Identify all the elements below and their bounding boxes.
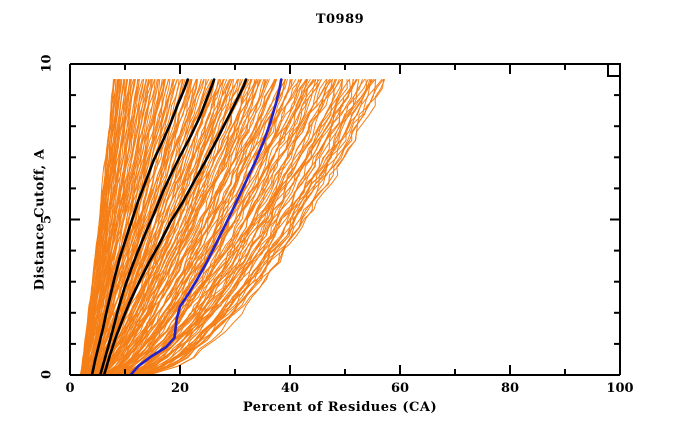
y-tick-label: 0	[40, 360, 55, 390]
x-tick-label: 80	[490, 381, 530, 396]
x-tick-label: 20	[160, 381, 200, 396]
y-tick-label: 10	[40, 49, 55, 79]
chart-figure: T0989 020406080100 0510 Percent of Resid…	[0, 0, 680, 440]
x-tick-label: 100	[600, 381, 640, 396]
x-tick-label: 40	[270, 381, 310, 396]
plot-canvas	[0, 0, 680, 440]
y-axis-label: Distance Cutoff, A	[33, 90, 48, 350]
corner-marker	[608, 64, 620, 76]
data-curves-layer	[80, 80, 384, 375]
x-axis-label: Percent of Residues (CA)	[0, 400, 680, 415]
x-tick-label: 0	[50, 381, 90, 396]
x-tick-label: 60	[380, 381, 420, 396]
